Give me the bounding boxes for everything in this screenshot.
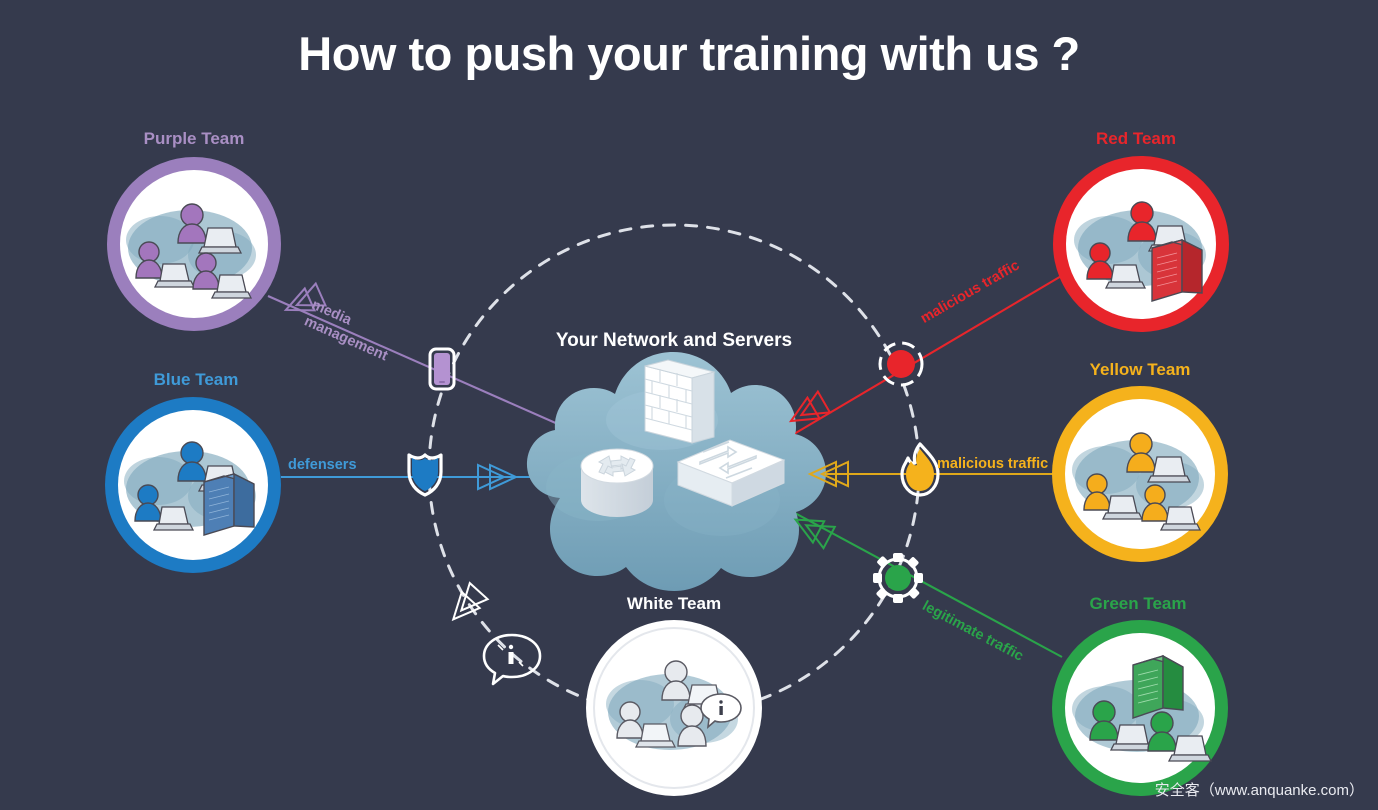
watermark: 安全客（www.anquanke.com） xyxy=(1155,779,1364,800)
team-label-blue: Blue Team xyxy=(116,370,276,390)
team-circle-green[interactable] xyxy=(1052,620,1228,796)
server-tower xyxy=(204,474,254,535)
team-circle-white[interactable] xyxy=(586,620,762,796)
page-title: How to push your training with us ? xyxy=(0,26,1378,81)
gear-icon xyxy=(873,553,923,603)
flow-line-red xyxy=(772,275,1063,447)
team-label-yellow: Yellow Team xyxy=(1060,360,1220,380)
infographic-canvas: How to push your training with us ? Purp… xyxy=(0,0,1378,810)
firewall-icon xyxy=(645,360,714,443)
team-circle-blue[interactable] xyxy=(105,397,281,573)
team-circle-purple[interactable] xyxy=(107,157,281,331)
team-circle-yellow[interactable] xyxy=(1052,386,1228,562)
flow-label-yellow: malicious traffic xyxy=(937,456,1048,472)
arrow-white xyxy=(444,583,487,627)
team-label-purple: Purple Team xyxy=(114,129,274,149)
target-icon xyxy=(880,343,922,385)
info-bubble-icon xyxy=(484,635,540,684)
server-tower xyxy=(1133,656,1183,718)
flame-icon xyxy=(902,444,938,495)
team-label-red: Red Team xyxy=(1056,129,1216,149)
shield-icon xyxy=(409,455,441,495)
team-circle-red[interactable] xyxy=(1053,156,1229,332)
team-label-white: White Team xyxy=(594,594,754,614)
diagram-svg xyxy=(0,0,1378,810)
center-network-label: Your Network and Servers xyxy=(524,330,824,352)
server-tower xyxy=(1152,240,1202,301)
router-icon xyxy=(581,449,653,517)
team-label-green: Green Team xyxy=(1058,594,1218,614)
flow-label-blue: defensers xyxy=(288,457,357,473)
